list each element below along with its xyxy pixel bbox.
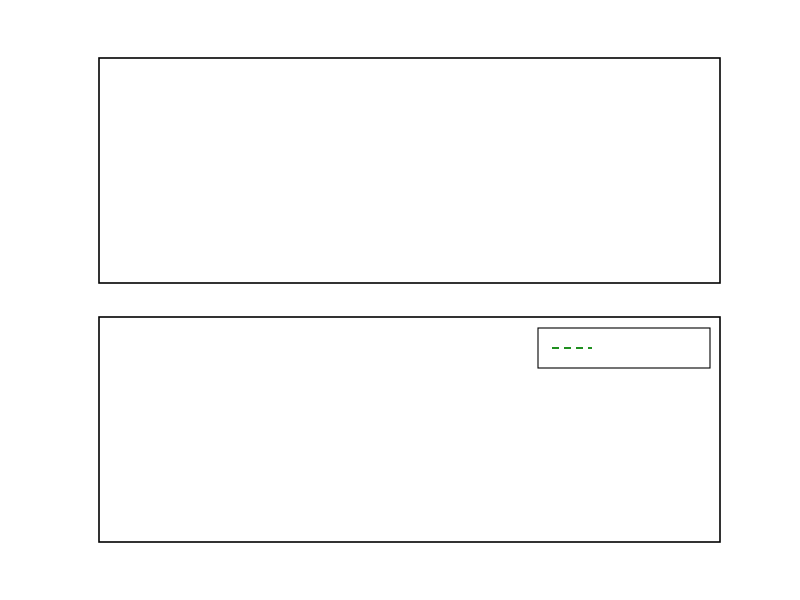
top-axes — [99, 58, 720, 283]
top-axes-frame — [99, 58, 720, 283]
matplotlib-figure — [0, 0, 800, 600]
legend[interactable] — [538, 328, 710, 368]
bottom-axes — [0, 317, 720, 542]
legend-frame — [538, 328, 710, 368]
